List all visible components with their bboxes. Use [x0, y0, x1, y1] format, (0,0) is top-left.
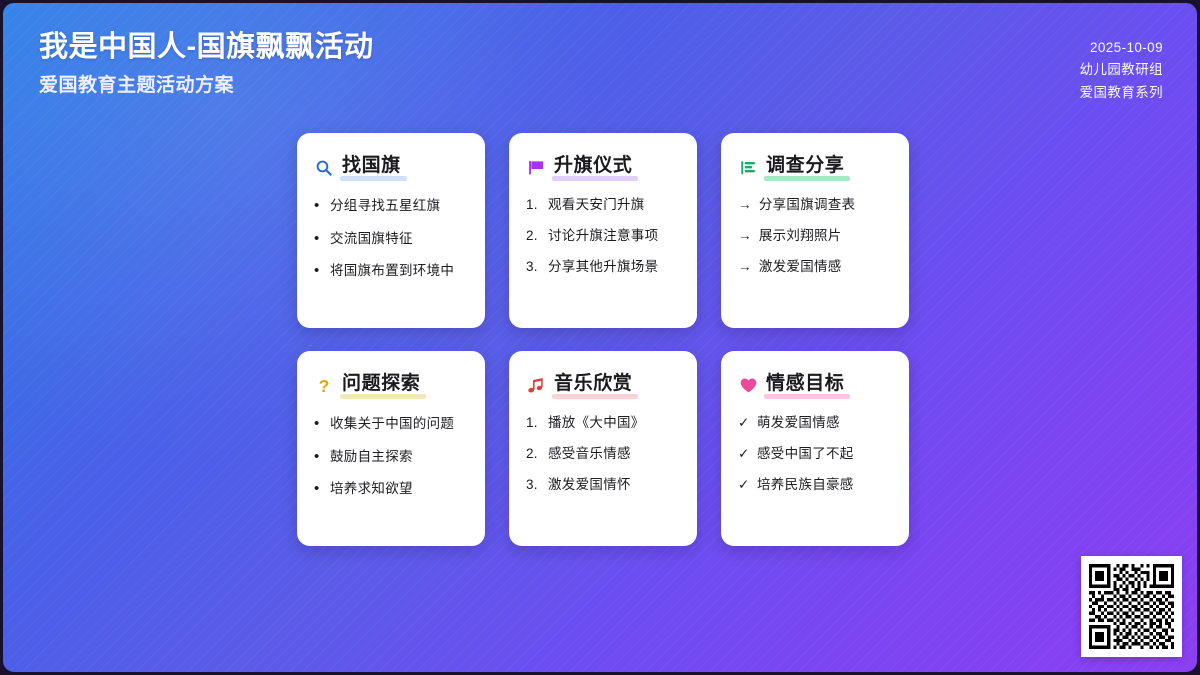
list-item-text: 讨论升旗注意事项 — [548, 228, 658, 245]
list-item-text: 收集关于中国的问题 — [330, 416, 454, 433]
card-title-underline — [764, 176, 850, 181]
page-subtitle: 爱国教育主题活动方案 — [39, 74, 374, 98]
card-title: 问题探索 — [342, 373, 420, 394]
list-item-text: 萌发爱国情感 — [757, 415, 840, 432]
card-header: 升旗仪式 — [526, 155, 680, 181]
card-item-list: →分享国旗调查表→展示刘翔照片→激发爱国情感 — [738, 197, 892, 276]
list-item: ✓萌发爱国情感 — [738, 415, 892, 432]
list-item: •分组寻找五星红旗 — [314, 197, 468, 216]
list-item-marker: • — [314, 262, 323, 281]
list-item-text: 播放《大中国》 — [548, 415, 645, 432]
list-item-marker: • — [314, 415, 323, 434]
header: 我是中国人-国旗飘飘活动 爱国教育主题活动方案 — [39, 29, 374, 98]
bar-chart-icon — [738, 158, 758, 178]
question-mark-icon: ? — [314, 376, 334, 396]
card-title: 升旗仪式 — [554, 155, 632, 176]
list-item: 3.分享其他升旗场景 — [526, 259, 680, 276]
list-item-marker: • — [314, 448, 323, 467]
list-item: 3.激发爱国情怀 — [526, 477, 680, 494]
list-item-marker: • — [314, 230, 323, 249]
card-title: 调查分享 — [766, 155, 844, 176]
card-title: 音乐欣赏 — [554, 373, 632, 394]
list-item-text: 分享其他升旗场景 — [548, 259, 658, 276]
card-item-list: ✓萌发爱国情感✓感受中国了不起✓培养民族自豪感 — [738, 415, 892, 494]
qr-code — [1089, 564, 1174, 649]
activity-card[interactable]: 调查分享→分享国旗调查表→展示刘翔照片→激发爱国情感 — [721, 133, 909, 328]
list-item-marker: 1. — [526, 415, 541, 432]
list-item: 2.讨论升旗注意事项 — [526, 228, 680, 245]
slide-canvas: 我是中国人-国旗飘飘活动 爱国教育主题活动方案 2025-10-09 幼儿园教研… — [0, 0, 1200, 675]
card-title-wrap: 找国旗 — [342, 155, 401, 181]
list-item-marker: ✓ — [738, 415, 750, 432]
list-item-text: 交流国旗特征 — [330, 231, 413, 248]
card-item-list: 1.观看天安门升旗2.讨论升旗注意事项3.分享其他升旗场景 — [526, 197, 680, 276]
list-item-text: 分组寻找五星红旗 — [330, 198, 440, 215]
page-title: 我是中国人-国旗飘飘活动 — [39, 29, 374, 65]
list-item: 2.感受音乐情感 — [526, 446, 680, 463]
card-title: 找国旗 — [342, 155, 401, 176]
meta-series: 爱国教育系列 — [1080, 82, 1163, 104]
list-item: ✓感受中国了不起 — [738, 446, 892, 463]
list-item-text: 鼓励自主探索 — [330, 449, 413, 466]
list-item: •培养求知欲望 — [314, 480, 468, 499]
list-item-marker: 2. — [526, 446, 541, 463]
heart-icon — [738, 376, 758, 396]
activity-card[interactable]: 音乐欣赏1.播放《大中国》2.感受音乐情感3.激发爱国情怀 — [509, 351, 697, 546]
card-title-wrap: 问题探索 — [342, 373, 420, 399]
activity-card[interactable]: 升旗仪式1.观看天安门升旗2.讨论升旗注意事项3.分享其他升旗场景 — [509, 133, 697, 328]
card-title-wrap: 升旗仪式 — [554, 155, 632, 181]
card-title-wrap: 情感目标 — [766, 373, 844, 399]
card-title-underline — [340, 176, 407, 181]
list-item-text: 感受音乐情感 — [548, 446, 631, 463]
activity-card[interactable]: ?问题探索•收集关于中国的问题•鼓励自主探索•培养求知欲望 — [297, 351, 485, 546]
card-header: 找国旗 — [314, 155, 468, 181]
list-item-text: 培养民族自豪感 — [757, 477, 854, 494]
list-item: →展示刘翔照片 — [738, 228, 892, 245]
list-item: •收集关于中国的问题 — [314, 415, 468, 434]
flag-icon — [526, 158, 546, 178]
card-title-underline — [764, 394, 850, 399]
music-note-icon — [526, 376, 546, 396]
list-item-marker: 2. — [526, 228, 541, 245]
list-item-marker: → — [738, 259, 752, 276]
list-item-text: 激发爱国情感 — [759, 259, 842, 276]
list-item: →激发爱国情感 — [738, 259, 892, 276]
card-header: 音乐欣赏 — [526, 373, 680, 399]
list-item: ✓培养民族自豪感 — [738, 477, 892, 494]
list-item-text: 培养求知欲望 — [330, 481, 413, 498]
list-item-marker: • — [314, 197, 323, 216]
list-item: •交流国旗特征 — [314, 230, 468, 249]
list-item: 1.播放《大中国》 — [526, 415, 680, 432]
card-title-underline — [340, 394, 426, 399]
meta-block: 2025-10-09 幼儿园教研组 爱国教育系列 — [1080, 37, 1163, 104]
activity-card[interactable]: 情感目标✓萌发爱国情感✓感受中国了不起✓培养民族自豪感 — [721, 351, 909, 546]
list-item: 1.观看天安门升旗 — [526, 197, 680, 214]
list-item-marker: 3. — [526, 259, 541, 276]
card-title-wrap: 音乐欣赏 — [554, 373, 632, 399]
list-item: •将国旗布置到环境中 — [314, 262, 468, 281]
card-item-list: 1.播放《大中国》2.感受音乐情感3.激发爱国情怀 — [526, 415, 680, 494]
meta-org: 幼儿园教研组 — [1080, 59, 1163, 81]
card-title-wrap: 调查分享 — [766, 155, 844, 181]
svg-text:?: ? — [319, 376, 330, 396]
meta-date: 2025-10-09 — [1080, 37, 1163, 59]
list-item-marker: ✓ — [738, 477, 750, 494]
list-item-marker: → — [738, 228, 752, 245]
list-item-marker: • — [314, 480, 323, 499]
card-title: 情感目标 — [766, 373, 844, 394]
search-icon — [314, 158, 334, 178]
card-item-list: •分组寻找五星红旗•交流国旗特征•将国旗布置到环境中 — [314, 197, 468, 281]
card-title-underline — [552, 176, 638, 181]
card-header: 情感目标 — [738, 373, 892, 399]
card-item-list: •收集关于中国的问题•鼓励自主探索•培养求知欲望 — [314, 415, 468, 499]
list-item-text: 激发爱国情怀 — [548, 477, 631, 494]
activity-card[interactable]: 找国旗•分组寻找五星红旗•交流国旗特征•将国旗布置到环境中 — [297, 133, 485, 328]
list-item-marker: ✓ — [738, 446, 750, 463]
list-item-text: 观看天安门升旗 — [548, 197, 645, 214]
card-header: 调查分享 — [738, 155, 892, 181]
list-item-text: 感受中国了不起 — [757, 446, 854, 463]
card-title-underline — [552, 394, 638, 399]
card-header: ?问题探索 — [314, 373, 468, 399]
card-grid: 找国旗•分组寻找五星红旗•交流国旗特征•将国旗布置到环境中升旗仪式1.观看天安门… — [297, 133, 911, 546]
list-item: •鼓励自主探索 — [314, 448, 468, 467]
list-item: →分享国旗调查表 — [738, 197, 892, 214]
list-item-marker: 1. — [526, 197, 541, 214]
qr-code-container[interactable] — [1081, 556, 1182, 657]
list-item-text: 展示刘翔照片 — [759, 228, 842, 245]
list-item-marker: → — [738, 197, 752, 214]
list-item-text: 分享国旗调查表 — [759, 197, 856, 214]
list-item-text: 将国旗布置到环境中 — [330, 263, 454, 280]
list-item-marker: 3. — [526, 477, 541, 494]
